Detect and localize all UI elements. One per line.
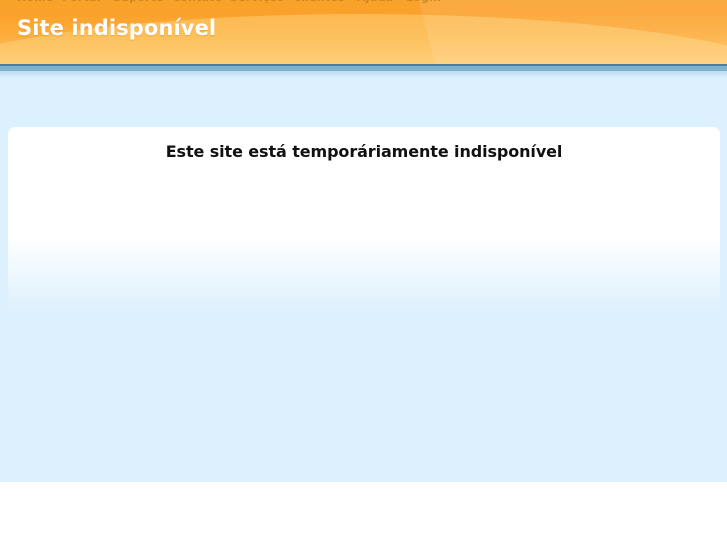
header-diagonal-decoration [419,0,727,64]
site-header: Home Portal Suporte Contato Serviços Cli… [0,0,727,64]
nav-item-0[interactable]: Home [17,0,54,4]
nav-item-6[interactable]: Ajuda [357,0,393,4]
clipped-nav-strip: Home Portal Suporte Contato Serviços Cli… [0,0,727,9]
nav-item-4[interactable]: Serviços [230,0,284,4]
unavailable-message: Este site está temporáriamente indisponí… [8,142,720,162]
content-card: Este site está temporáriamente indisponí… [8,127,720,317]
footer-area [0,482,727,545]
nav-item-5[interactable]: Clientes [293,0,345,4]
nav-item-7[interactable]: Login [406,0,441,4]
page-container: Home Portal Suporte Contato Serviços Cli… [0,0,727,482]
page-title: Site indisponível [17,15,216,41]
nav-item-1[interactable]: Portal [62,0,101,4]
nav-item-2[interactable]: Suporte [113,0,164,4]
header-divider-fade [0,71,727,78]
nav-item-3[interactable]: Contato [172,0,222,4]
